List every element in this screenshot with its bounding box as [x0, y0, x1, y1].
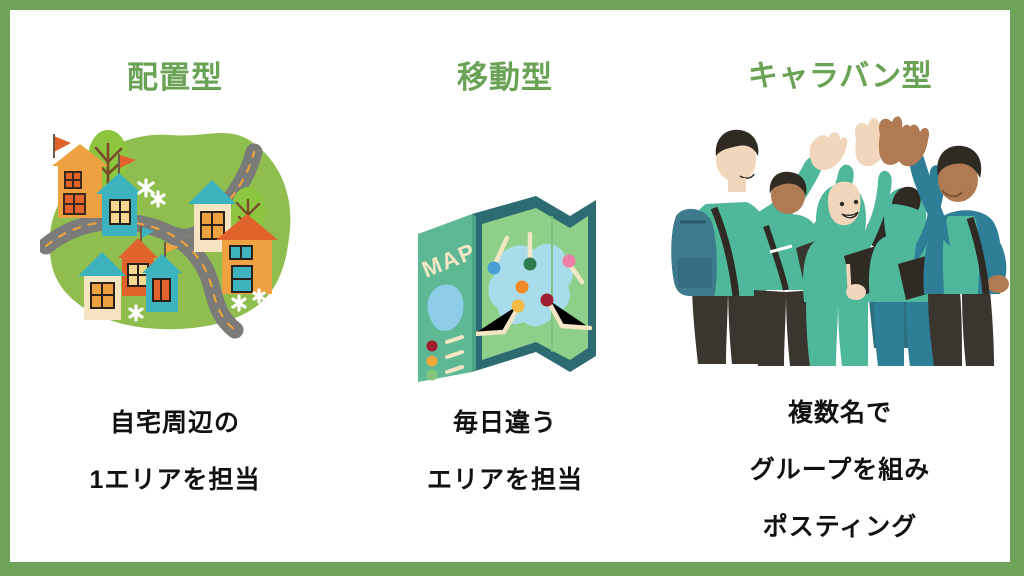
caption-line: 複数名で: [670, 385, 1010, 442]
caption-line: エリアを担当: [340, 452, 670, 509]
caption-idou: 毎日違う エリアを担当: [340, 395, 670, 509]
village-neighborhood-illustration: [10, 118, 340, 378]
column-idou: 移動型: [340, 10, 670, 562]
caption-line: グループを組み: [670, 442, 1010, 499]
caption-line: 自宅周辺の: [10, 395, 340, 452]
group-high-five-illustration: [670, 118, 1010, 378]
heading-idou: 移動型: [340, 62, 670, 93]
heading-caravan: キャラバン型: [670, 62, 1010, 92]
white-panel: 配置型: [10, 10, 1010, 562]
map-svg: MAP: [410, 186, 600, 386]
caption-caravan: 複数名で グループを組み ポスティング: [670, 385, 1010, 556]
pin-yellow: [512, 300, 525, 313]
people-svg: [670, 112, 1010, 372]
heading-haichi: 配置型: [10, 62, 340, 93]
pin-darkred: [541, 294, 554, 307]
caption-line: ポスティング: [670, 499, 1010, 556]
caption-haichi: 自宅周辺の 1エリアを担当: [10, 395, 340, 509]
map-cover-edge: [472, 214, 476, 372]
caption-line: 1エリアを担当: [10, 452, 340, 509]
village-svg: [40, 118, 310, 343]
column-caravan: キャラバン型: [670, 10, 1010, 562]
pin-pink: [563, 255, 576, 268]
column-haichi: 配置型: [10, 10, 340, 562]
pin-green: [524, 258, 537, 271]
slide-root: 配置型: [0, 0, 1024, 576]
pin-orange: [516, 281, 529, 294]
folded-map-illustration: MAP: [340, 118, 670, 378]
caption-line: 毎日違う: [340, 395, 670, 452]
pin-blue: [488, 262, 501, 275]
